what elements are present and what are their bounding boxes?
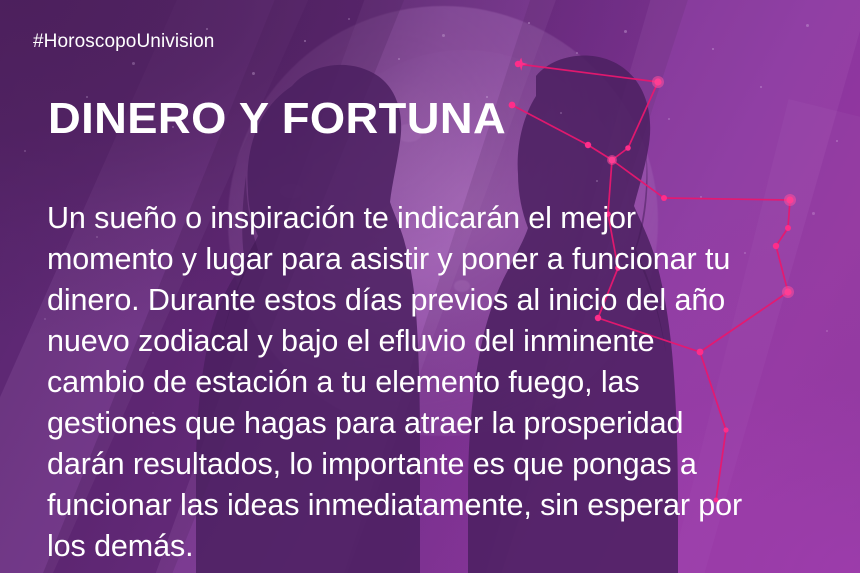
text-content: #HoroscopoUnivision DINERO Y FORTUNA Un …	[0, 0, 860, 573]
body-line: funcionar las ideas inmediatamente, sin …	[47, 485, 817, 526]
body-line: cambio de estación a tu elemento fuego, …	[47, 362, 817, 403]
body-line: Un sueño o inspiración te indicarán el m…	[47, 198, 817, 239]
hashtag-label: #HoroscopoUnivision	[33, 31, 214, 53]
body-line: dinero. Durante estos días previos al in…	[47, 280, 817, 321]
body-line: nuevo zodiacal y bajo el efluvio del inm…	[47, 321, 817, 362]
body-line: darán resultados, lo importante es que p…	[47, 444, 817, 485]
page-title: DINERO Y FORTUNA	[48, 95, 506, 143]
horoscope-card: #HoroscopoUnivision DINERO Y FORTUNA Un …	[0, 0, 860, 573]
body-line: los demás.	[47, 526, 817, 567]
body-line: momento y lugar para asistir y poner a f…	[47, 239, 817, 280]
horoscope-body-text: Un sueño o inspiración te indicarán el m…	[47, 198, 817, 567]
body-line: gestiones que hagas para atraer la prosp…	[47, 403, 817, 444]
